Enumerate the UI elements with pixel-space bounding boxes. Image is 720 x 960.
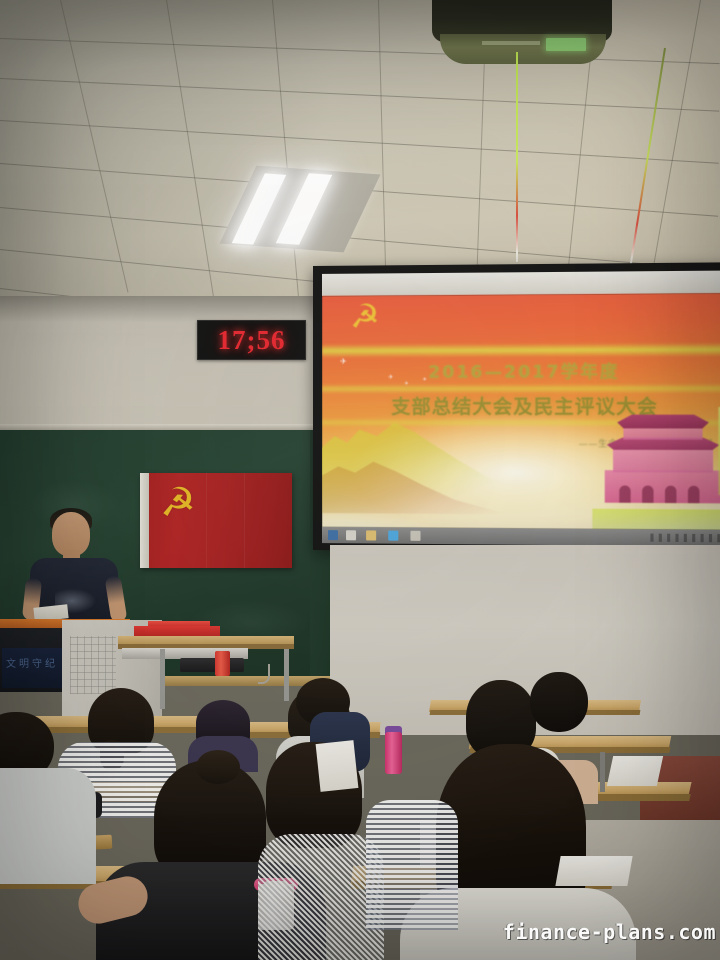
folder-icon[interactable] <box>366 530 376 540</box>
clock-time: 17;56 <box>218 325 286 356</box>
presentation-slide: ☭ ✈ ✈ ✈ ✈ 2016—2017学年度 支部总结大会及民主评议大会 ——生… <box>322 293 720 530</box>
gate-arch <box>642 486 653 503</box>
gate-arch <box>665 486 676 503</box>
windows-taskbar[interactable] <box>322 527 720 546</box>
slide-cloud-band <box>322 342 720 358</box>
ceiling-cable <box>516 52 518 262</box>
student-torso <box>366 800 458 930</box>
start-icon[interactable] <box>328 530 338 540</box>
equipment-case <box>180 658 244 672</box>
projector-vent <box>482 41 540 45</box>
gate-arch <box>619 485 630 502</box>
table-leg <box>160 649 165 709</box>
projection-screen-surface: ☭ ✈ ✈ ✈ ✈ 2016—2017学年度 支部总结大会及民主评议大会 ——生… <box>322 271 720 547</box>
paper-sheet <box>316 740 359 792</box>
paper-sheet <box>607 756 663 786</box>
site-watermark: finance-plans.com <box>503 920 716 944</box>
screen-top-strip <box>322 271 720 296</box>
slide-hammer-sickle-icon: ☭ <box>350 300 386 334</box>
slide-title-year: 2016—2017学年度 <box>322 357 720 383</box>
system-tray[interactable] <box>650 534 720 543</box>
desk-leg <box>600 752 605 792</box>
table-leg <box>284 649 289 701</box>
projection-screen: ☭ ✈ ✈ ✈ ✈ 2016—2017学年度 支部总结大会及民主评议大会 ——生… <box>313 262 720 553</box>
ceiling-tint <box>0 0 720 300</box>
student-hair-bun <box>196 750 240 784</box>
explorer-icon[interactable] <box>346 530 356 540</box>
student-torso <box>0 768 96 884</box>
hammer-sickle-icon: ☭ <box>160 483 202 523</box>
projector-led-indicator <box>546 38 586 51</box>
pink-thermos <box>385 732 402 774</box>
gate-arch <box>688 486 700 503</box>
red-cup <box>215 651 230 676</box>
flag-fold <box>244 473 245 568</box>
lectern-grille <box>70 636 116 694</box>
student-hair <box>530 672 588 732</box>
gate-upper-roof <box>617 414 709 428</box>
browser-icon[interactable] <box>388 531 398 541</box>
digital-wall-clock: 17;56 <box>197 320 306 360</box>
slide-foliage <box>592 509 720 530</box>
classroom-photo: 17;56 ☭ ☭ ✈ ✈ ✈ ✈ 2016—2017学年度 支部总结大会及民主… <box>0 0 720 960</box>
table-hook <box>258 664 270 684</box>
app-icon[interactable] <box>410 531 420 541</box>
tiananmen-gate-illustration <box>601 409 720 503</box>
paper-sheet <box>555 856 632 886</box>
flag-fold <box>206 473 207 568</box>
flag-hoist-strip <box>140 473 149 568</box>
